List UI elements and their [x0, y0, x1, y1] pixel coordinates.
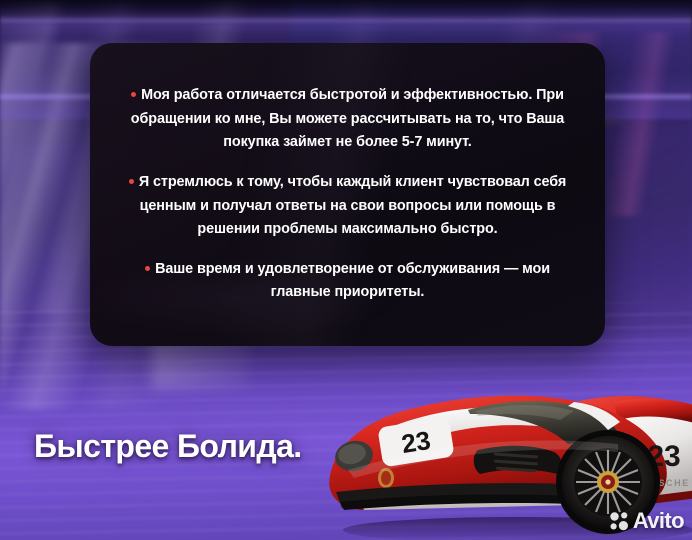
avito-watermark: Avito [609, 510, 684, 532]
promo-banner: Моя работа отличается быстротой и эффект… [0, 0, 692, 540]
card-paragraph-1: Моя работа отличается быстротой и эффект… [112, 84, 583, 154]
bullet-dot-icon [131, 92, 136, 97]
message-card: Моя работа отличается быстротой и эффект… [90, 43, 605, 346]
card-paragraph-3-text: Ваше время и удовлетворение от обслужива… [155, 261, 550, 300]
avito-logo-icon [609, 511, 629, 531]
bullet-dot-icon [129, 179, 134, 184]
card-paragraph-3: Ваше время и удовлетворение от обслужива… [112, 258, 583, 305]
background-top-shade [0, 0, 692, 27]
bullet-dot-icon [145, 266, 150, 271]
card-paragraph-1-text: Моя работа отличается быстротой и эффект… [131, 87, 564, 150]
card-paragraph-2: Я стремлюсь к тому, чтобы каждый клиент … [112, 171, 583, 241]
card-paragraph-2-text: Я стремлюсь к тому, чтобы каждый клиент … [139, 174, 566, 237]
headline-text: Быстрее Болида. [34, 428, 302, 465]
avito-wordmark: Avito [633, 510, 684, 532]
